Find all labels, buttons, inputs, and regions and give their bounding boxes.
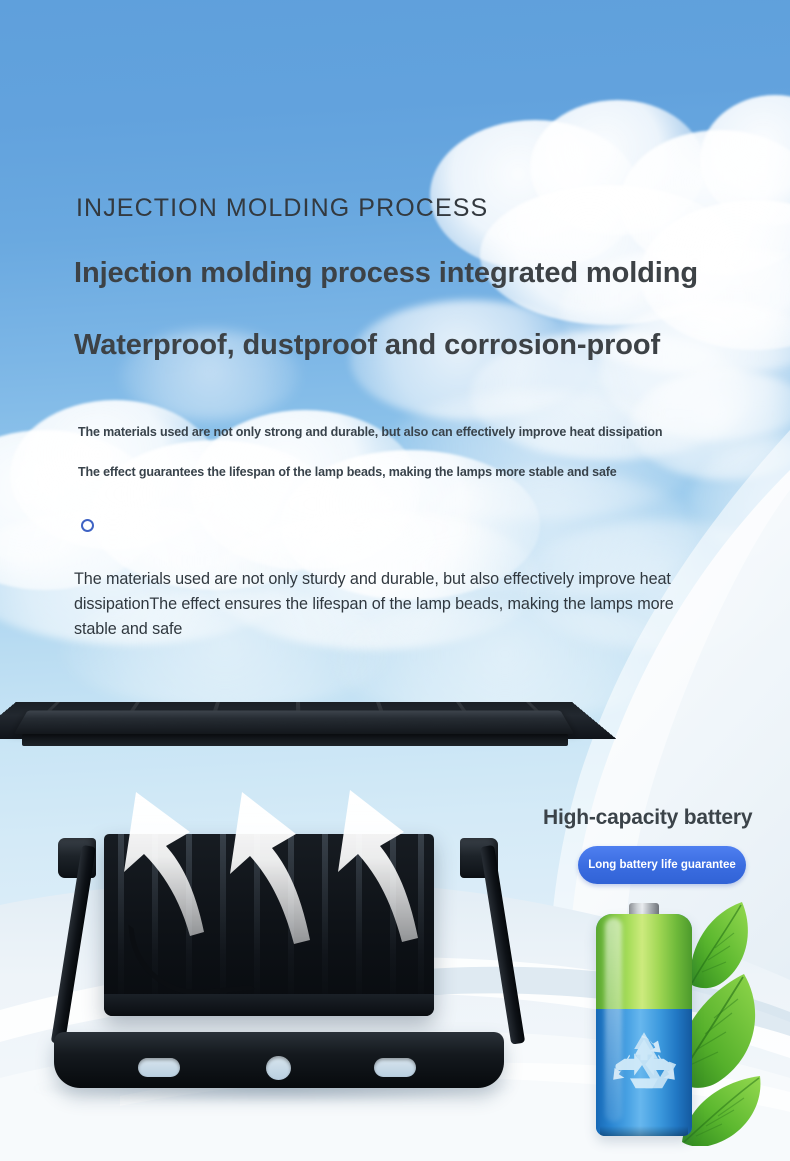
subline-1: The materials used are not only strong a… [78, 425, 662, 439]
circle-outline-icon [81, 519, 94, 532]
eyebrow-heading: INJECTION MOLDING PROCESS [76, 194, 488, 223]
airflow-arrow-icon [0, 686, 590, 986]
headline-secondary: Waterproof, dustproof and corrosion-proo… [74, 329, 660, 362]
mounting-bracket-icon [54, 1032, 504, 1088]
description-paragraph: The materials used are not only sturdy a… [74, 567, 710, 642]
battery-section-title: High-capacity battery [543, 806, 752, 830]
battery-cell-icon [596, 903, 692, 1141]
solar-floodlight-product-image [0, 686, 590, 1161]
recycle-icon [609, 1027, 679, 1099]
bracket-hole [266, 1056, 291, 1080]
leaf-icon [690, 902, 748, 988]
status-badge: Long battery life guarantee [578, 846, 746, 884]
bracket-hole [138, 1058, 180, 1077]
subline-2: The effect guarantees the lifespan of th… [78, 465, 617, 479]
bracket-hole [374, 1058, 416, 1077]
headline-primary: Injection molding process integrated mol… [74, 257, 698, 290]
product-banner-page: INJECTION MOLDING PROCESS Injection mold… [0, 0, 790, 1161]
